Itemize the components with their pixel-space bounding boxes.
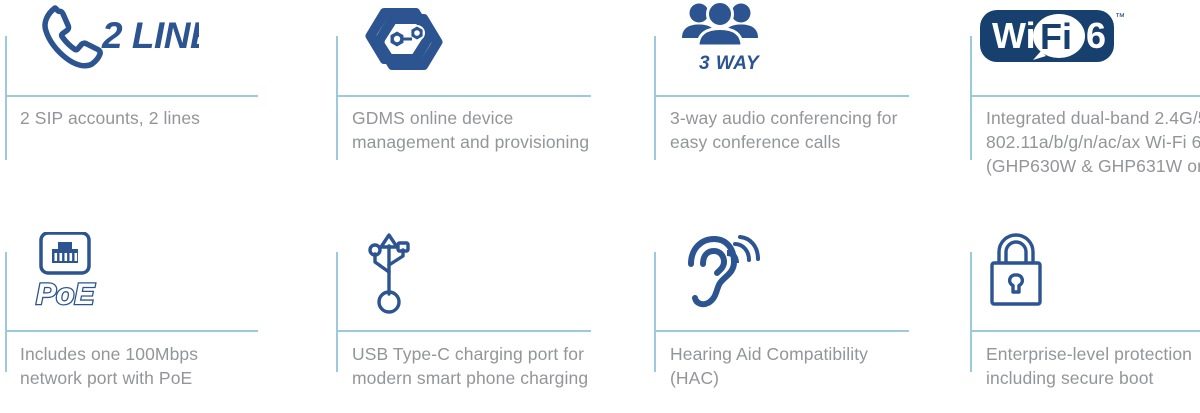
feature-description: GDMS online device management and provis… xyxy=(352,106,608,154)
divider-horizontal xyxy=(654,95,909,97)
padlock-icon xyxy=(986,232,1046,304)
icon-label: 3 WAY xyxy=(699,53,761,72)
divider-vertical xyxy=(336,36,338,160)
feature-cell-three-way: 3 WAY 3-way audio conferencing for easy … xyxy=(632,0,948,210)
feature-description: Hearing Aid Compatibility (HAC) xyxy=(670,342,910,390)
feature-description: Enterprise-level protection including se… xyxy=(986,342,1200,390)
icon-label: PoE xyxy=(36,278,95,308)
divider-vertical xyxy=(336,252,338,372)
divider-horizontal xyxy=(336,95,591,97)
feature-description: 2 SIP accounts, 2 lines xyxy=(20,106,256,130)
divider-horizontal xyxy=(5,95,258,97)
feature-cell-poe: PoE Includes one 100Mbps network port wi… xyxy=(0,210,316,413)
three-people-icon: 3 WAY xyxy=(677,0,787,72)
divider-horizontal xyxy=(654,330,909,332)
feature-cell-gdms: GDMS online device management and provis… xyxy=(316,0,632,210)
feature-description: Includes one 100Mbps network port with P… xyxy=(20,342,256,390)
wifi-6-logo-icon: Wi Fi 6 ™ xyxy=(978,4,1128,76)
divider-horizontal xyxy=(336,330,591,332)
svg-text:Fi: Fi xyxy=(1040,16,1072,57)
divider-vertical xyxy=(5,36,7,160)
feature-cell-hac: Hearing Aid Compatibility (HAC) xyxy=(632,210,948,413)
divider-horizontal xyxy=(5,330,258,332)
divider-vertical xyxy=(5,252,7,372)
divider-horizontal xyxy=(970,95,1200,97)
ear-hearing-aid-icon xyxy=(677,232,761,304)
ethernet-poe-icon: PoE xyxy=(30,232,112,304)
svg-text:6: 6 xyxy=(1086,15,1106,56)
divider-vertical xyxy=(970,36,972,160)
usb-trident-icon xyxy=(358,232,420,304)
svg-text:Wi: Wi xyxy=(992,15,1036,56)
phone-handset-icon: 2 LINES xyxy=(24,0,199,72)
feature-cell-two-lines: 2 LINES 2 SIP accounts, 2 lines xyxy=(0,0,316,210)
svg-text:™: ™ xyxy=(1115,12,1125,23)
divider-vertical xyxy=(654,36,656,160)
feature-grid: 2 LINES 2 SIP accounts, 2 lines xyxy=(0,0,1200,413)
icon-label: 2 LINES xyxy=(101,15,199,56)
divider-vertical xyxy=(970,252,972,372)
gdms-hexagon-icon xyxy=(354,6,454,78)
feature-cell-usb-type-c: USB Type-C charging port for modern smar… xyxy=(316,210,632,413)
feature-cell-secure-boot: Enterprise-level protection including se… xyxy=(948,210,1200,413)
feature-description: Integrated dual-band 2.4G/5G 802.11a/b/g… xyxy=(986,106,1200,178)
feature-description: USB Type-C charging port for modern smar… xyxy=(352,342,608,390)
divider-horizontal xyxy=(970,330,1200,332)
divider-vertical xyxy=(654,252,656,372)
feature-cell-wifi6: Wi Fi 6 ™ Integrated dual-band 2.4G/5G 8… xyxy=(948,0,1200,210)
feature-description: 3-way audio conferencing for easy confer… xyxy=(670,106,910,154)
